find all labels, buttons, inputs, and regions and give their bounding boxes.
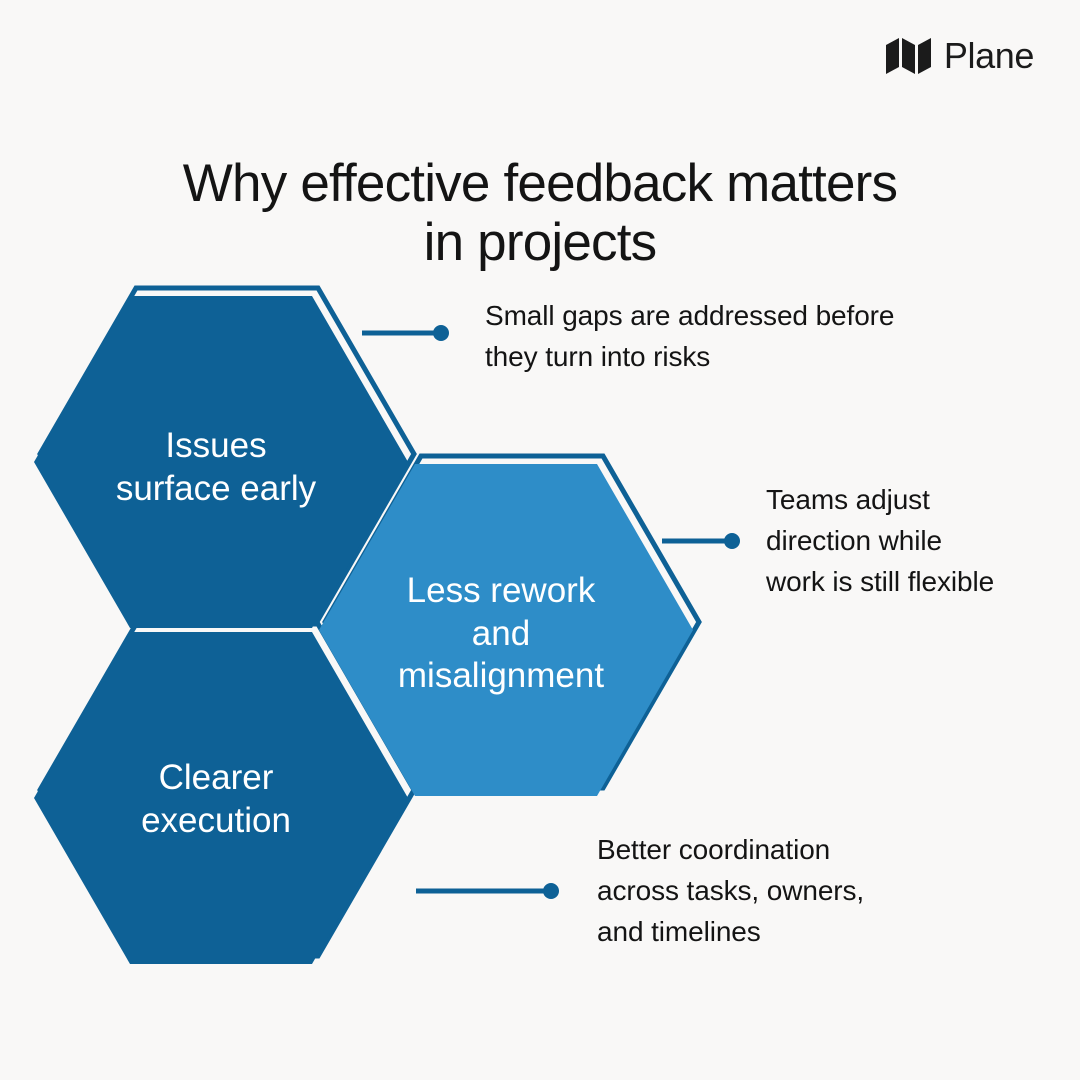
callout-rework-line-2: direction while <box>766 521 994 562</box>
connector-rework <box>662 533 740 549</box>
connector-execution-dot <box>543 883 559 899</box>
connector-issues-dot <box>433 325 449 341</box>
infographic-canvas: Plane Why effective feedback matters in … <box>0 0 1080 1080</box>
connector-rework-dot <box>724 533 740 549</box>
callout-issues-line-1: Small gaps are addressed before <box>485 296 894 337</box>
callout-rework-line-3: work is still flexible <box>766 562 994 603</box>
callout-execution-line-2: across tasks, owners, <box>597 871 864 912</box>
callout-issues-text: Small gaps are addressed before they tur… <box>485 296 894 378</box>
callout-execution-text: Better coordination across tasks, owners… <box>597 830 864 953</box>
callout-issues-line-2: they turn into risks <box>485 337 894 378</box>
connector-execution <box>416 883 559 899</box>
callout-rework-text: Teams adjust direction while work is sti… <box>766 480 994 603</box>
callout-execution-line-3: and timelines <box>597 912 864 953</box>
callout-rework-line-1: Teams adjust <box>766 480 994 521</box>
connector-issues <box>362 325 449 341</box>
callout-execution-line-1: Better coordination <box>597 830 864 871</box>
